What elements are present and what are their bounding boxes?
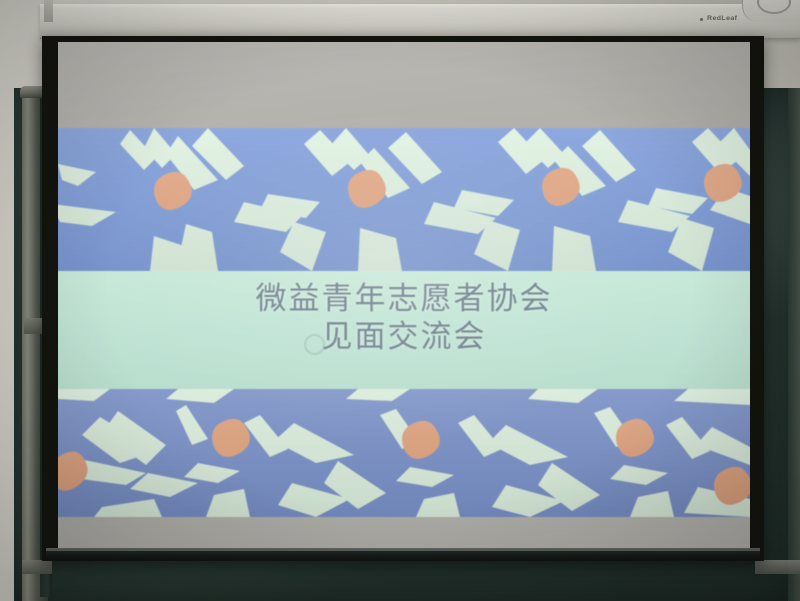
slide-title-line-1: 微益青年志愿者协会 [58,280,750,318]
floral-pattern-top [58,128,750,271]
projected-slide: 微益青年志愿者协会 见面交流会 [58,42,750,550]
slide-title: 微益青年志愿者协会 见面交流会 [58,280,750,356]
floral-border-top [58,128,750,271]
chalk-tray [755,560,800,574]
screen-weight-bar-highlight [46,548,760,551]
projection-screen: 微益青年志愿者协会 见面交流会 [58,42,750,550]
slide-title-line-2: 见面交流会 [58,318,750,356]
blackboard-frame-right [788,88,800,601]
floral-pattern-bottom [58,389,750,517]
floral-border-bottom [58,389,750,517]
screen-roller-casing [40,4,800,39]
casing-top-highlight [40,4,800,9]
classroom-photo: RedLeaf [0,0,800,601]
casing-mount-bracket-upper [44,0,53,22]
casing-brand-label: RedLeaf [707,15,737,21]
blackboard-bracket-bottom [22,560,52,574]
brand-dot-icon [700,18,703,21]
faint-bullet-icon [304,334,325,355]
